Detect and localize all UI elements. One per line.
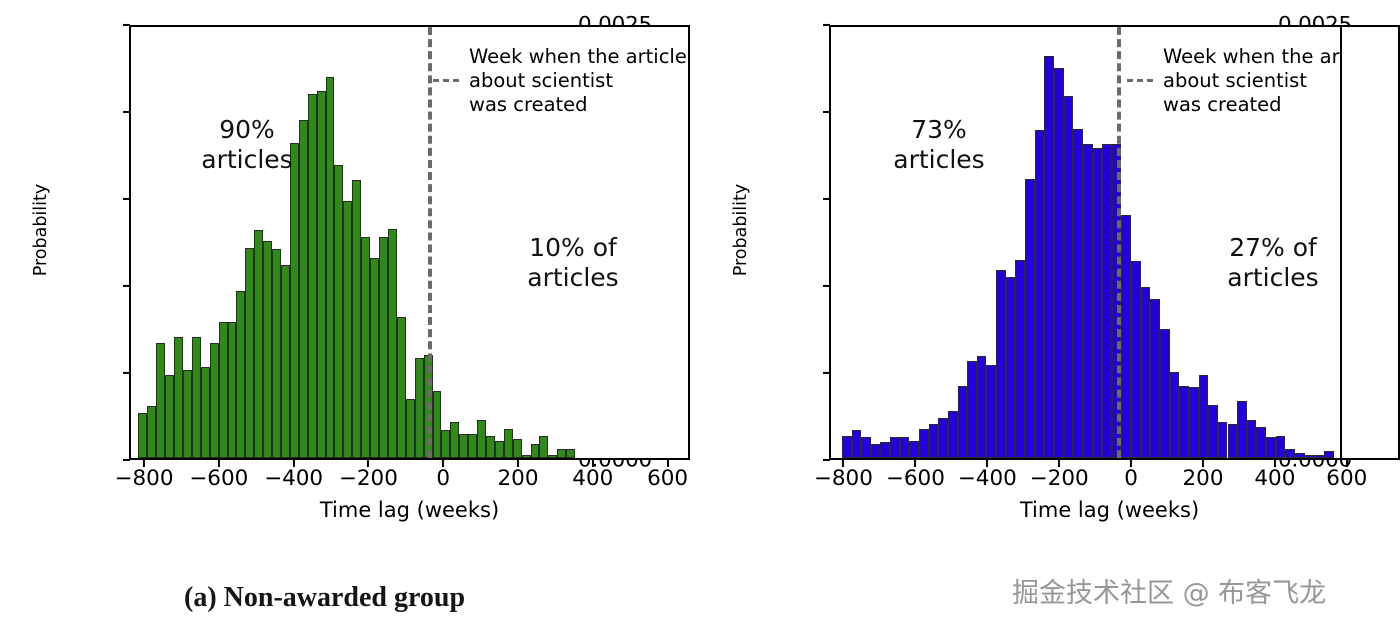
histogram-bar (1228, 424, 1238, 458)
annotation-left-percent-a: 90% articles (167, 115, 327, 175)
histogram-bar (441, 430, 450, 458)
histogram-bar (1285, 449, 1295, 458)
histogram-bar (1093, 148, 1103, 458)
x-axis-label-a: Time lag (weeks) (129, 498, 690, 522)
histogram-bar (958, 386, 968, 458)
reference-vline-b (1117, 27, 1121, 458)
x-tick-label: 600 (647, 466, 688, 491)
histogram-bar (263, 241, 272, 458)
histogram-bar (147, 406, 156, 458)
histogram-bar (996, 270, 1006, 458)
histogram-bar (1035, 130, 1045, 458)
panel-a-non-awarded: Probability 0.0025 0.0020 0.0015 0.0010 … (0, 0, 700, 638)
histogram-bar (201, 367, 210, 458)
histogram-bar (852, 430, 862, 458)
histogram-bar (433, 391, 442, 458)
x-tick-label: −400 (264, 466, 323, 491)
histogram-bar (1025, 179, 1035, 458)
legend-dash-b (1127, 79, 1153, 82)
histogram-bar (495, 441, 504, 458)
histogram-bar (504, 429, 513, 458)
histogram-bar (1044, 56, 1054, 458)
histogram-bar (486, 436, 495, 458)
x-tick-label: −800 (114, 466, 173, 491)
plot-area-c-partial (1340, 25, 1400, 460)
histogram-bar (1247, 420, 1257, 458)
histogram-bar (1295, 453, 1305, 458)
y-axis-label-a: Probability (31, 170, 51, 290)
plot-area-b: 73% articles 27% of articles Week when t… (829, 25, 1390, 460)
histogram-bar (890, 437, 900, 458)
histogram-bar (1276, 436, 1286, 458)
histogram-bar (900, 437, 910, 458)
plot-area-a: 90% articles 10% of articles Week when t… (129, 25, 690, 460)
x-tick-label: 400 (572, 466, 613, 491)
histogram-bar (334, 165, 343, 458)
histogram-bar (938, 418, 948, 458)
x-tick-label: 0 (1124, 466, 1138, 491)
histogram-bar (352, 180, 361, 458)
histogram-bar (165, 375, 174, 458)
histogram-bar (548, 455, 557, 458)
histogram-bar (1141, 287, 1151, 458)
x-tick-label: 400 (1254, 466, 1295, 491)
histogram-bar (871, 444, 881, 458)
histogram-bar (1102, 144, 1112, 458)
caption-panel-a: (a) Non-awarded group (184, 582, 465, 614)
histogram-bar (290, 143, 299, 458)
histogram-bar (477, 420, 486, 458)
histogram-bar (539, 436, 548, 458)
histogram-bar (174, 337, 183, 458)
histogram-bar (210, 343, 219, 459)
histogram-bar (557, 449, 566, 458)
histogram-bar (388, 229, 397, 458)
histogram-bar (566, 449, 575, 458)
histogram-bar (531, 444, 540, 458)
histogram-bar (236, 291, 245, 458)
histogram-bar (1150, 299, 1160, 458)
panel-b-awarded: Probability 0.0025 0.0020 0.0015 0.0010 … (700, 0, 1400, 638)
histogram-bar (138, 413, 147, 458)
figure-histograms-time-lag: Probability 0.0025 0.0020 0.0015 0.0010 … (0, 0, 1400, 638)
x-axis-label-b: Time lag (weeks) (829, 498, 1390, 522)
histogram-bar (1064, 96, 1074, 458)
histogram-bar (1218, 422, 1228, 458)
x-tick-label: −400 (958, 466, 1017, 491)
histogram-bar (245, 248, 254, 458)
histogram-bar (1266, 437, 1276, 458)
x-tick-label: −200 (1030, 466, 1089, 491)
histogram-bar (459, 434, 468, 458)
histogram-bar (919, 429, 929, 458)
legend-text-a: Week when the article about scientist wa… (469, 45, 687, 116)
histogram-bar (880, 442, 890, 458)
histogram-bar (406, 399, 415, 458)
x-tick-label: 200 (1182, 466, 1223, 491)
x-tick-label: −600 (886, 466, 945, 491)
histogram-bar (929, 424, 939, 458)
histogram-bar (228, 322, 237, 458)
histogram-bar (343, 201, 352, 458)
panel-c-partial-cropped (1352, 0, 1400, 638)
annotation-right-percent-b: 27% of articles (1183, 233, 1363, 293)
histogram-bar (842, 436, 852, 458)
histogram-bar (1121, 215, 1131, 458)
histogram-bar (1208, 405, 1218, 458)
histogram-bar (219, 322, 228, 458)
histogram-bar (1054, 68, 1064, 458)
histogram-bar (1179, 386, 1189, 458)
histogram-bar (397, 317, 406, 458)
histogram-bar (450, 422, 459, 458)
histogram-bar (522, 455, 531, 458)
histogram-bar (379, 237, 388, 458)
watermark: 掘金技术社区 @ 布客飞龙 (1012, 571, 1326, 610)
histogram-bar (986, 365, 996, 458)
histogram-bar (415, 358, 424, 458)
x-tick-label: −800 (814, 466, 873, 491)
histogram-bar (281, 265, 290, 458)
histogram-bar (1189, 387, 1199, 458)
x-tick-label: 0 (436, 466, 450, 491)
histogram-bar (513, 439, 522, 458)
histogram-bar (1131, 261, 1141, 458)
histogram-bar (909, 441, 919, 458)
histogram-bar (192, 337, 201, 458)
histogram-bar (1305, 455, 1315, 458)
histogram-bar (1006, 277, 1016, 458)
histogram-bar (1073, 129, 1083, 458)
histogram-bar (1083, 144, 1093, 458)
histogram-bar (1160, 329, 1170, 458)
histogram-bar (861, 437, 871, 458)
histogram-bar (1170, 372, 1180, 458)
x-tick-label: −200 (339, 466, 398, 491)
histogram-bar (254, 230, 263, 458)
y-axis-label-b: Probability (731, 170, 751, 290)
x-tick-label: −600 (189, 466, 248, 491)
annotation-right-percent-a: 10% of articles (483, 233, 663, 293)
histogram-bar (1199, 375, 1209, 458)
histogram-bar (948, 411, 958, 458)
histogram-bar (1237, 401, 1247, 458)
x-tick-label: 200 (497, 466, 538, 491)
histogram-bar (1314, 455, 1324, 458)
histogram-bar (361, 237, 370, 458)
histogram-bar (1015, 260, 1025, 458)
histogram-bar (370, 258, 379, 458)
reference-vline-a (428, 27, 432, 458)
histogram-bar (156, 343, 165, 459)
histogram-bar (1256, 427, 1266, 458)
legend-dash-a (433, 79, 459, 82)
histogram-bar (967, 361, 977, 458)
histogram-bar (468, 434, 477, 458)
histogram-bar (1324, 451, 1334, 458)
histogram-bar (183, 370, 192, 458)
histogram-bar (272, 249, 281, 458)
histogram-bar (977, 356, 987, 458)
annotation-left-percent-b: 73% articles (859, 115, 1019, 175)
